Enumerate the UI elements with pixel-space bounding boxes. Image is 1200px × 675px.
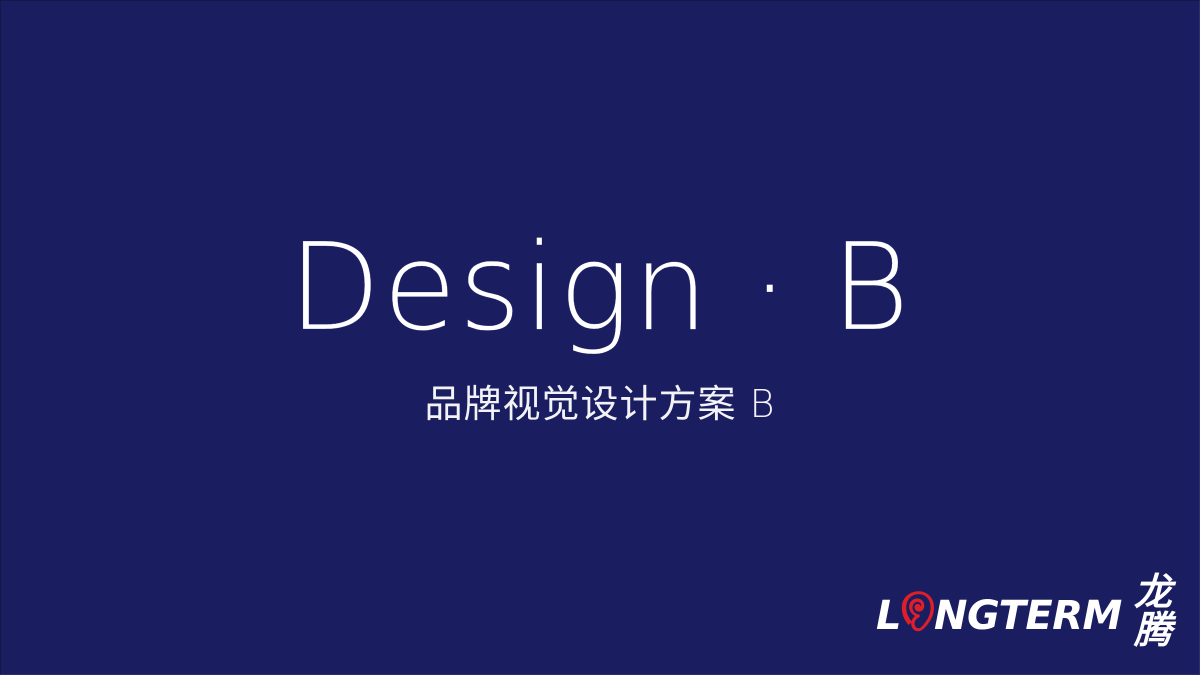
logo-wordmark: L NGTERM <box>876 587 1122 636</box>
title-block: Design · B 品牌视觉设计方案 B <box>1 229 1199 423</box>
page-title: Design · B <box>1 229 1199 349</box>
cover-slide: Design · B 品牌视觉设计方案 B L NGTERM 龙腾 <box>0 0 1200 675</box>
brand-logo: L NGTERM 龙腾 <box>876 587 1199 635</box>
logo-letter-l: L <box>876 596 901 636</box>
logo-wordmark-text: NGTERM <box>934 596 1122 636</box>
page-subtitle: 品牌视觉设计方案 B <box>1 349 1199 423</box>
dragon-seal-icon <box>901 590 935 632</box>
logo-chinese-name: 龙腾 <box>1134 573 1199 649</box>
